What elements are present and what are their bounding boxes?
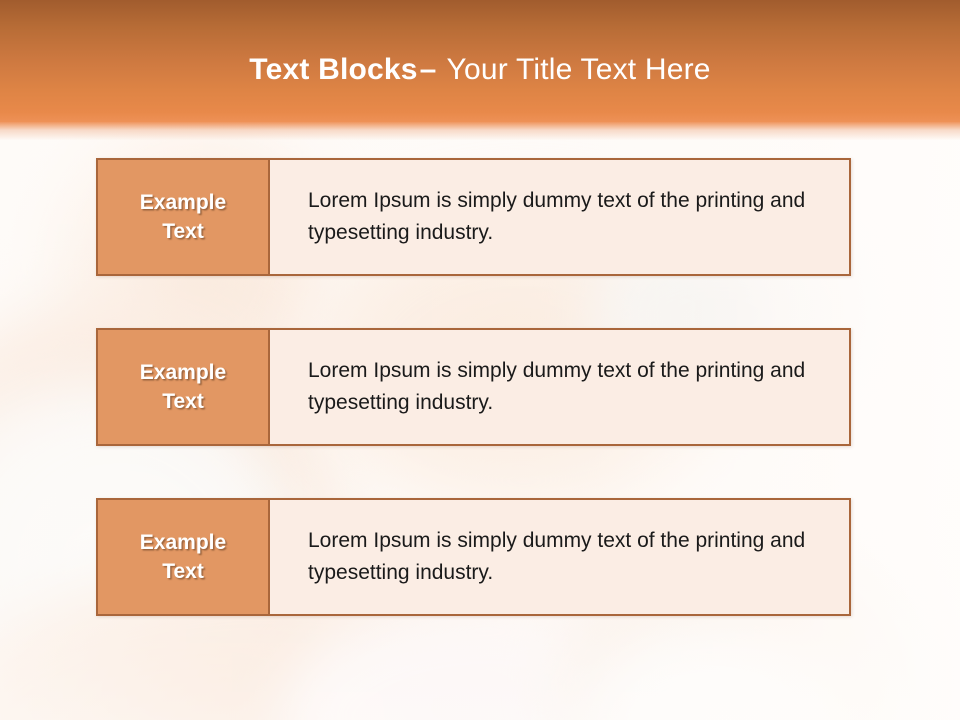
text-block-3-label-line2: Text — [162, 557, 204, 586]
text-blocks-group: Example Text Lorem Ipsum is simply dummy… — [96, 158, 851, 616]
text-block-1-body: Lorem Ipsum is simply dummy text of the … — [270, 160, 849, 274]
text-block-1-label-line1: Example — [140, 188, 226, 217]
text-block-1-label-line2: Text — [162, 217, 204, 246]
text-block-2-body-text: Lorem Ipsum is simply dummy text of the … — [308, 355, 829, 419]
text-block-1-label: Example Text — [98, 160, 270, 274]
slide-header-fade — [0, 122, 960, 140]
page-title-separator: – — [418, 53, 439, 86]
page-title: Text Blocks– Your Title Text Here — [0, 52, 960, 88]
text-block-1[interactable]: Example Text Lorem Ipsum is simply dummy… — [96, 158, 851, 276]
text-block-2[interactable]: Example Text Lorem Ipsum is simply dummy… — [96, 328, 851, 446]
text-block-3-label-line1: Example — [140, 528, 226, 557]
text-block-3-label: Example Text — [98, 500, 270, 614]
text-block-2-label-line1: Example — [140, 358, 226, 387]
text-block-3-body-text: Lorem Ipsum is simply dummy text of the … — [308, 525, 829, 589]
page-title-bold: Text Blocks — [249, 53, 417, 86]
text-block-2-body: Lorem Ipsum is simply dummy text of the … — [270, 330, 849, 444]
presentation-slide: Text Blocks– Your Title Text Here Exampl… — [0, 0, 960, 720]
text-block-2-label-line2: Text — [162, 387, 204, 416]
text-block-2-label: Example Text — [98, 330, 270, 444]
text-block-3-body: Lorem Ipsum is simply dummy text of the … — [270, 500, 849, 614]
text-block-1-body-text: Lorem Ipsum is simply dummy text of the … — [308, 185, 829, 249]
page-title-rest: Your Title Text Here — [447, 53, 711, 86]
text-block-3[interactable]: Example Text Lorem Ipsum is simply dummy… — [96, 498, 851, 616]
